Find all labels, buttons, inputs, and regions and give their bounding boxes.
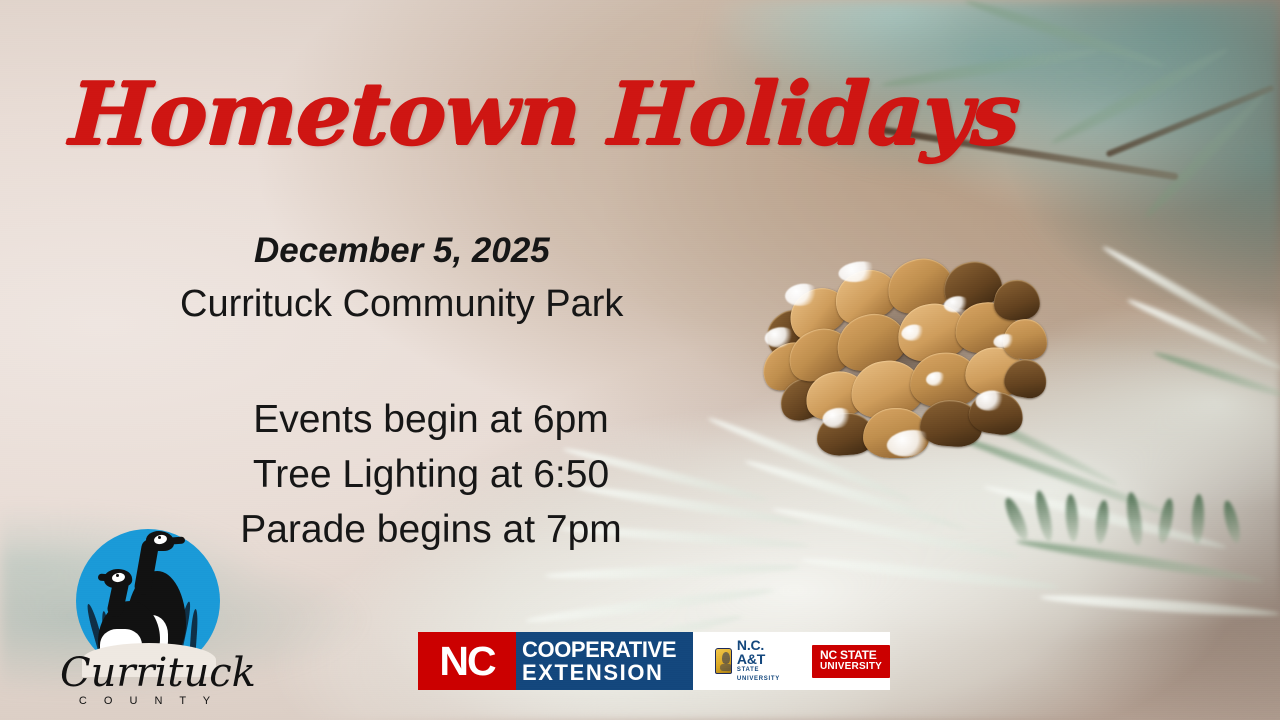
currituck-subtext: C O U N T Y <box>60 695 236 707</box>
currituck-county-logo: Currituck C O U N T Y <box>58 527 238 707</box>
currituck-wordmark: Currituck <box>60 653 236 693</box>
partner-logos: N.C. A&T STATE UNIVERSITY NC STATE UNIVE… <box>693 632 890 690</box>
nc-cooperative-extension-logo: NC COOPERATIVE EXTENSION N.C. A&T STATE … <box>418 632 890 690</box>
nc-state-logo: NC STATE UNIVERSITY <box>812 645 890 678</box>
nc-state-sub: UNIVERSITY <box>820 661 882 673</box>
nc-state-name: NC STATE <box>820 649 882 661</box>
schedule-line: Events begin at 6pm <box>0 392 862 447</box>
nc-monogram: NC <box>439 638 494 685</box>
nc-at-name: N.C. A&T <box>737 638 790 666</box>
event-venue: Currituck Community Park <box>180 283 623 326</box>
nc-at-logo: N.C. A&T STATE UNIVERSITY <box>715 638 790 684</box>
aggie-bulldog-icon <box>715 648 732 674</box>
extension-line-1: COOPERATIVE <box>522 638 693 661</box>
nc-at-sub: STATE UNIVERSITY <box>737 666 790 684</box>
schedule-line: Tree Lighting at 6:50 <box>0 447 862 502</box>
holiday-event-poster: Hometown Holidays December 5, 2025 Curri… <box>0 0 1280 720</box>
page-title: Hometown Holidays <box>68 72 1022 158</box>
event-date: December 5, 2025 <box>254 231 550 271</box>
cooperative-extension-block: COOPERATIVE EXTENSION <box>516 632 693 690</box>
extension-line-2: EXTENSION <box>522 661 693 684</box>
nc-red-block: NC <box>418 632 516 690</box>
